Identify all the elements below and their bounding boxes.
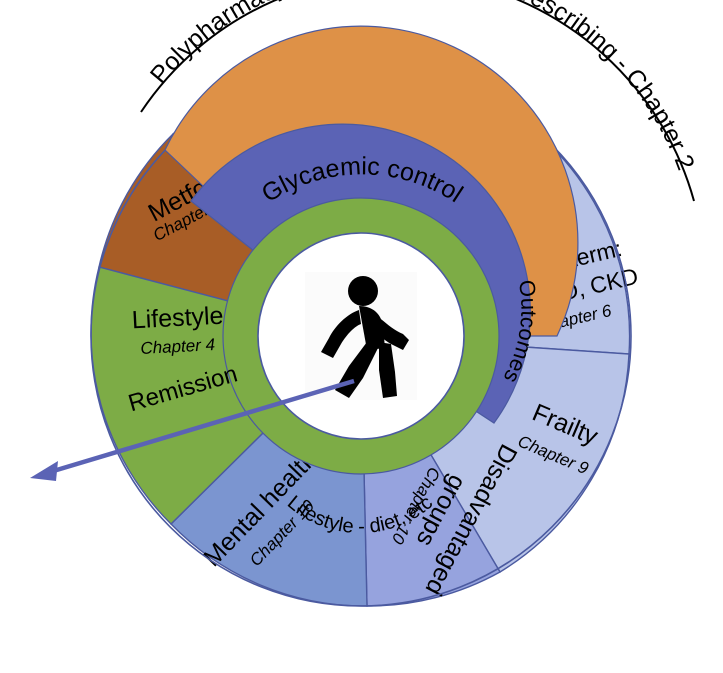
- segment-lifestyle-chapter: Chapter 4: [140, 335, 216, 358]
- diagram-canvas: Metformin Chapter 5 ASCVD, CKD Chapter 6…: [0, 0, 723, 673]
- wheel-diagram: Metformin Chapter 5 ASCVD, CKD Chapter 6…: [0, 0, 723, 673]
- walking-person-icon: [305, 272, 417, 400]
- segment-lifestyle-label: Lifestyle: [131, 302, 224, 335]
